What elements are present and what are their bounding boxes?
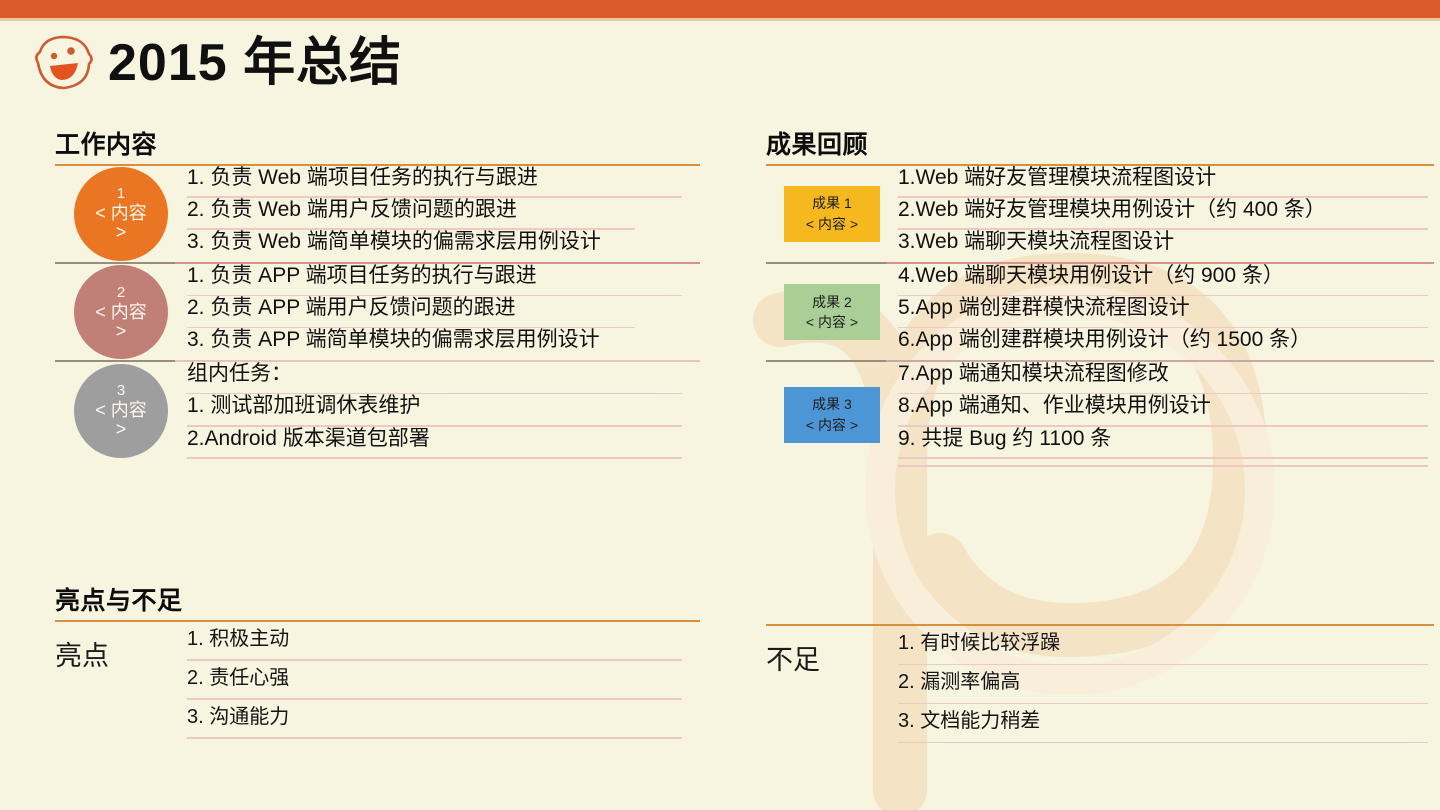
highlight-item: 1. 积极主动 — [187, 622, 700, 661]
group-items-cell: 7.App 端通知模块流程图修改8.App 端通知、作业模块用例设计9. 共提 … — [898, 362, 1434, 466]
group-items-cell: 组内任务：1. 测试部加班调休表维护2.Android 版本渠道包部署 — [187, 362, 700, 458]
work-item: 1. 负责 Web 端项目任务的执行与跟进 — [187, 166, 700, 198]
result-item-text: 8.App 端通知、作业模块用例设计 — [898, 394, 1434, 418]
group-badge-number: 3 — [117, 382, 125, 401]
group-badge-number: 成果 1 — [812, 193, 852, 213]
shortcoming-item-text: 1. 有时候比较浮躁 — [898, 632, 1434, 655]
result-item: 9. 共提 Bug 约 1100 条 — [898, 427, 1434, 459]
highlight-item: 2. 责任心强 — [187, 661, 700, 700]
group-badge[interactable]: 1< 内容 > — [74, 167, 168, 261]
result-item-underline — [898, 465, 1428, 467]
work-item-text: 组内任务： — [187, 362, 700, 386]
shortcoming-item-text: 3. 文档能力稍差 — [898, 710, 1434, 733]
slide-canvas: 2015 年总结 工作内容 1< 内容 >1. 负责 Web 端项目任务的执行与… — [0, 0, 1440, 810]
work-item-text: 1. 负责 Web 端项目任务的执行与跟进 — [187, 166, 700, 190]
group-badge-sublabel: < 内容 > — [806, 312, 858, 332]
slide-title-row: 2015 年总结 — [28, 30, 402, 96]
result-item-text: 9. 共提 Bug 约 1100 条 — [898, 427, 1434, 451]
group-badge-cell: 3< 内容 > — [55, 362, 187, 458]
result-item: 5.App 端创建群模快流程图设计 — [898, 296, 1434, 328]
highlights-section-title: 亮点与不足 — [55, 588, 700, 616]
work-item-text: 2.Android 版本渠道包部署 — [187, 427, 700, 451]
smiley-face-icon — [28, 30, 100, 96]
result-item-text: 7.App 端通知模块流程图修改 — [898, 362, 1434, 386]
top-accent-bar — [0, 0, 1440, 18]
group-badge-number: 成果 3 — [812, 394, 852, 414]
result-item: 4.Web 端聊天模块用例设计（约 900 条） — [898, 264, 1434, 296]
result-item: 7.App 端通知模块流程图修改 — [898, 362, 1434, 394]
work-section-title: 工作内容 — [55, 132, 700, 160]
content-group: 2< 内容 >1. 负责 APP 端项目任务的执行与跟进2. 负责 APP 端用… — [55, 264, 700, 360]
result-item-text: 4.Web 端聊天模块用例设计（约 900 条） — [898, 264, 1434, 288]
work-item: 3. 负责 Web 端简单模块的偏需求层用例设计 — [187, 230, 700, 262]
group-badge[interactable]: 成果 3< 内容 > — [784, 387, 880, 443]
group-badge-cell: 成果 2< 内容 > — [766, 264, 898, 360]
group-badge[interactable]: 成果 1< 内容 > — [784, 186, 880, 242]
result-item-text: 6.App 端创建群模块用例设计（约 1500 条） — [898, 328, 1434, 352]
work-item: 2. 负责 Web 端用户反馈问题的跟进 — [187, 198, 700, 230]
shortcoming-item: 1. 有时候比较浮躁 — [898, 626, 1434, 665]
shortcoming-item-underline — [898, 742, 1428, 744]
highlight-item-underline — [187, 737, 682, 739]
highlights-label: 亮点 — [55, 622, 187, 673]
group-badge-sublabel: < 内容 > — [90, 303, 152, 341]
group-badge-number: 1 — [117, 185, 125, 204]
group-badge-sublabel: < 内容 > — [90, 401, 152, 439]
work-item: 组内任务： — [187, 362, 700, 394]
work-item-text: 2. 负责 Web 端用户反馈问题的跟进 — [187, 198, 700, 222]
shortcoming-item: 2. 漏测率偏高 — [898, 665, 1434, 704]
group-badge-cell: 成果 3< 内容 > — [766, 362, 898, 466]
highlight-item-text: 2. 责任心强 — [187, 667, 700, 690]
group-badge-cell: 成果 1< 内容 > — [766, 166, 898, 262]
group-badge-cell: 2< 内容 > — [55, 264, 187, 360]
shortcoming-item-text: 2. 漏测率偏高 — [898, 671, 1434, 694]
group-badge-sublabel: < 内容 > — [806, 214, 858, 234]
group-items-cell: 1. 负责 APP 端项目任务的执行与跟进2. 负责 APP 端用户反馈问题的跟… — [187, 264, 700, 360]
result-item-text: 2.Web 端好友管理模块用例设计（约 400 条） — [898, 198, 1434, 222]
work-item-underline — [187, 457, 682, 459]
group-badge-number: 2 — [117, 284, 125, 303]
shortcomings-section: 不足 1. 有时候比较浮躁2. 漏测率偏高3. 文档能力稍差 — [766, 620, 1434, 743]
content-group: 成果 3< 内容 >7.App 端通知模块流程图修改8.App 端通知、作业模块… — [766, 362, 1434, 466]
work-item-text: 3. 负责 Web 端简单模块的偏需求层用例设计 — [187, 230, 700, 254]
results-group-list: 成果 1< 内容 >1.Web 端好友管理模块流程图设计2.Web 端好友管理模… — [766, 166, 1434, 467]
result-item: 3.Web 端聊天模块流程图设计 — [898, 230, 1434, 262]
shortcoming-item: 3. 文档能力稍差 — [898, 704, 1434, 743]
group-badge[interactable]: 3< 内容 > — [74, 364, 168, 458]
result-item: 2.Web 端好友管理模块用例设计（约 400 条） — [898, 198, 1434, 230]
group-items-cell: 4.Web 端聊天模块用例设计（约 900 条）5.App 端创建群模快流程图设… — [898, 264, 1434, 360]
work-item-text: 1. 负责 APP 端项目任务的执行与跟进 — [187, 264, 700, 288]
content-group: 1< 内容 >1. 负责 Web 端项目任务的执行与跟进2. 负责 Web 端用… — [55, 166, 700, 262]
result-item-text: 1.Web 端好友管理模块流程图设计 — [898, 166, 1434, 190]
work-item-text: 2. 负责 APP 端用户反馈问题的跟进 — [187, 296, 700, 320]
shortcomings-item-list: 1. 有时候比较浮躁2. 漏测率偏高3. 文档能力稍差 — [898, 626, 1434, 743]
highlights-block: 亮点 1. 积极主动2. 责任心强3. 沟通能力 — [55, 622, 700, 739]
group-badge-sublabel: < 内容 > — [806, 415, 858, 435]
group-badge-number: 成果 2 — [812, 292, 852, 312]
highlight-item-text: 3. 沟通能力 — [187, 706, 700, 729]
result-item: 8.App 端通知、作业模块用例设计 — [898, 394, 1434, 426]
shortcomings-label: 不足 — [766, 626, 898, 677]
group-badge-cell: 1< 内容 > — [55, 166, 187, 262]
content-group: 3< 内容 >组内任务：1. 测试部加班调休表维护2.Android 版本渠道包… — [55, 362, 700, 458]
work-item: 3. 负责 APP 端简单模块的偏需求层用例设计 — [187, 328, 700, 360]
results-section-title: 成果回顾 — [766, 132, 1434, 160]
result-item: 6.App 端创建群模块用例设计（约 1500 条） — [898, 328, 1434, 360]
highlights-section: 亮点与不足 亮点 1. 积极主动2. 责任心强3. 沟通能力 — [55, 588, 700, 739]
results-section: 成果回顾 成果 1< 内容 >1.Web 端好友管理模块流程图设计2.Web 端… — [766, 132, 1434, 467]
page-title: 2015 年总结 — [108, 37, 402, 89]
group-badge[interactable]: 成果 2< 内容 > — [784, 284, 880, 340]
work-item: 2. 负责 APP 端用户反馈问题的跟进 — [187, 296, 700, 328]
work-item: 2.Android 版本渠道包部署 — [187, 427, 700, 459]
result-item: 1.Web 端好友管理模块流程图设计 — [898, 166, 1434, 198]
highlights-item-list: 1. 积极主动2. 责任心强3. 沟通能力 — [187, 622, 700, 739]
work-item: 1. 负责 APP 端项目任务的执行与跟进 — [187, 264, 700, 296]
group-badge[interactable]: 2< 内容 > — [74, 265, 168, 359]
content-group: 成果 2< 内容 >4.Web 端聊天模块用例设计（约 900 条）5.App … — [766, 264, 1434, 360]
highlight-item: 3. 沟通能力 — [187, 700, 700, 739]
group-badge-sublabel: < 内容 > — [90, 204, 152, 242]
group-items-cell: 1. 负责 Web 端项目任务的执行与跟进2. 负责 Web 端用户反馈问题的跟… — [187, 166, 700, 262]
shortcomings-block: 不足 1. 有时候比较浮躁2. 漏测率偏高3. 文档能力稍差 — [766, 626, 1434, 743]
group-items-cell: 1.Web 端好友管理模块流程图设计2.Web 端好友管理模块用例设计（约 40… — [898, 166, 1434, 262]
work-section: 工作内容 1< 内容 >1. 负责 Web 端项目任务的执行与跟进2. 负责 W… — [55, 132, 700, 459]
result-item-text: 5.App 端创建群模快流程图设计 — [898, 296, 1434, 320]
result-item — [898, 459, 1434, 467]
result-item-text: 3.Web 端聊天模块流程图设计 — [898, 230, 1434, 254]
content-group: 成果 1< 内容 >1.Web 端好友管理模块流程图设计2.Web 端好友管理模… — [766, 166, 1434, 262]
work-item: 1. 测试部加班调休表维护 — [187, 394, 700, 426]
work-group-list: 1< 内容 >1. 负责 Web 端项目任务的执行与跟进2. 负责 Web 端用… — [55, 166, 700, 459]
highlight-item-text: 1. 积极主动 — [187, 628, 700, 651]
work-item-text: 1. 测试部加班调休表维护 — [187, 394, 700, 418]
work-item-text: 3. 负责 APP 端简单模块的偏需求层用例设计 — [187, 328, 700, 352]
top-accent-underline — [0, 18, 1440, 21]
